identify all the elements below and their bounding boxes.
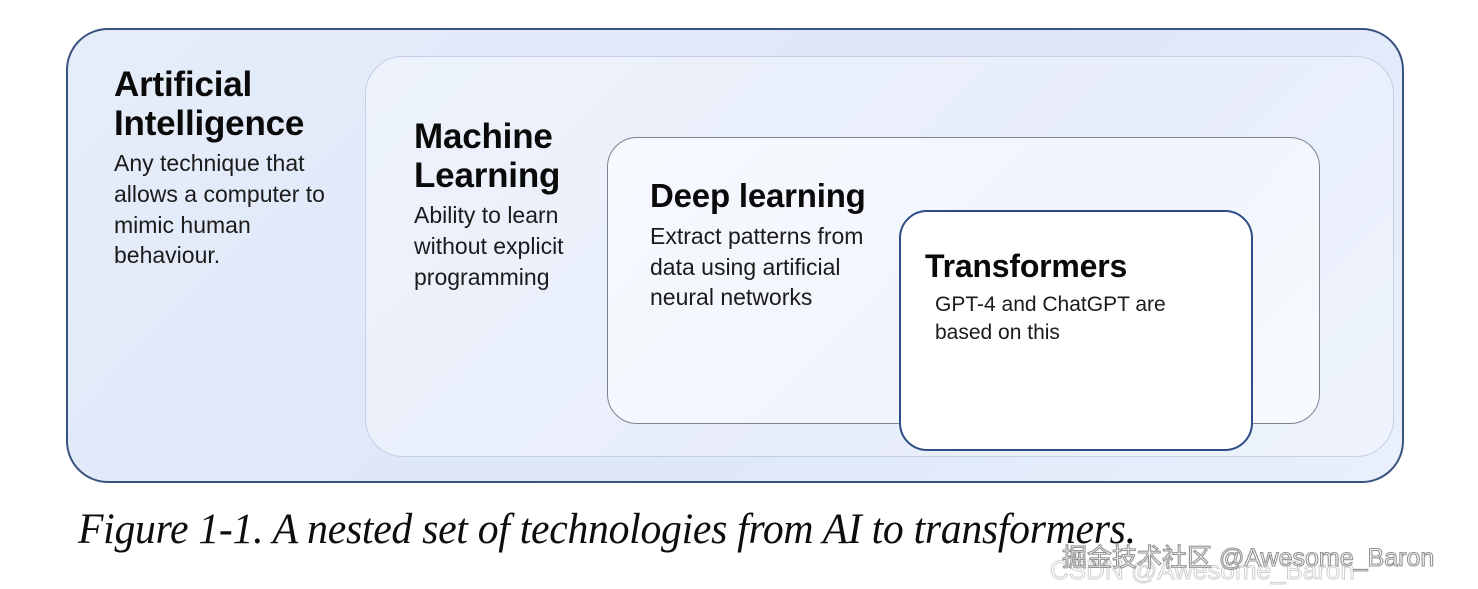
machine-learning-box: Machine Learning Ability to learn withou… bbox=[365, 56, 1394, 457]
figure-caption: Figure 1-1. A nested set of technologies… bbox=[78, 505, 1368, 554]
deep-learning-heading: Deep learning bbox=[650, 178, 922, 215]
transformers-box: Transformers GPT-4 and ChatGPT are based… bbox=[899, 210, 1253, 451]
machine-learning-heading: Machine Learning bbox=[414, 117, 629, 195]
transformers-description: GPT-4 and ChatGPT are based on this bbox=[935, 291, 1215, 347]
watermark-csdn: CSDN @Awesome_Baron bbox=[1050, 555, 1355, 586]
deep-learning-box: Deep learning Extract patterns from data… bbox=[607, 137, 1320, 424]
machine-learning-text-block: Machine Learning Ability to learn withou… bbox=[414, 117, 629, 292]
nested-technologies-figure: Artificial Intelligence Any technique th… bbox=[0, 0, 1478, 589]
artificial-intelligence-text-block: Artificial Intelligence Any technique th… bbox=[114, 65, 366, 271]
machine-learning-description: Ability to learn without explicit progra… bbox=[414, 200, 629, 292]
deep-learning-text-block: Deep learning Extract patterns from data… bbox=[650, 178, 922, 313]
artificial-intelligence-box: Artificial Intelligence Any technique th… bbox=[66, 28, 1404, 483]
transformers-text-block: Transformers GPT-4 and ChatGPT are based… bbox=[925, 249, 1215, 347]
deep-learning-description: Extract patterns from data using artific… bbox=[650, 221, 922, 313]
artificial-intelligence-heading: Artificial Intelligence bbox=[114, 65, 366, 143]
artificial-intelligence-description: Any technique that allows a computer to … bbox=[114, 148, 366, 270]
transformers-heading: Transformers bbox=[925, 249, 1215, 285]
